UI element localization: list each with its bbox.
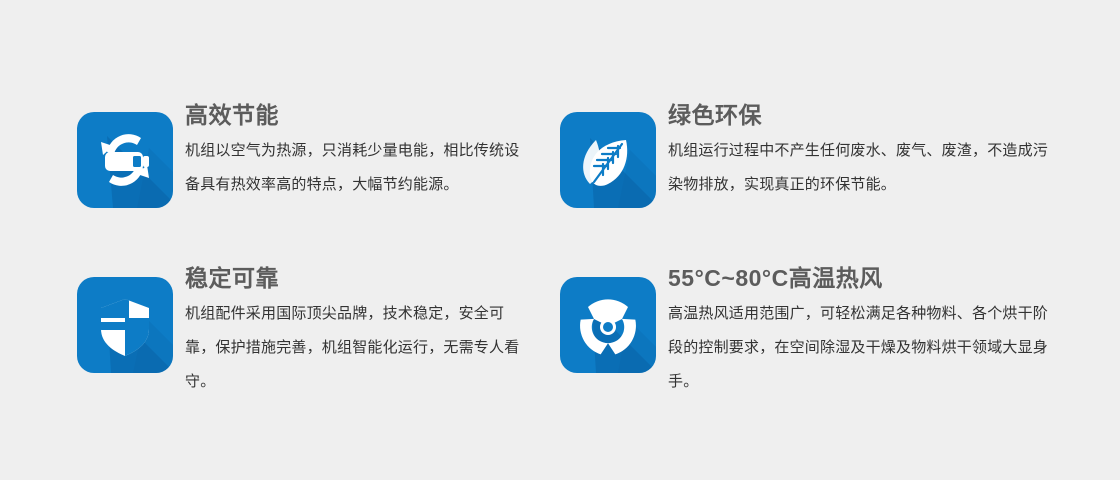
feature-card-hot-air: 55°C~80°C高温热风 高温热风适用范围广，可轻松满足各种物料、各个烘干阶段… — [560, 263, 1052, 399]
feature-card-energy-saving: 高效节能 机组以空气为热源，只消耗少量电能，相比传统设备具有热效率高的特点，大幅… — [77, 100, 560, 263]
feature-title: 稳定可靠 — [185, 263, 523, 293]
feature-icon-tile — [77, 112, 173, 208]
feature-title: 绿色环保 — [668, 100, 1050, 130]
leaf-icon — [560, 112, 656, 208]
radiation-heat-icon — [560, 277, 656, 373]
feature-description: 机组以空气为热源，只消耗少量电能，相比传统设备具有热效率高的特点，大幅节约能源。 — [185, 134, 523, 202]
feature-icon-tile — [560, 112, 656, 208]
feature-card-eco-friendly: 绿色环保 机组运行过程中不产生任何废水、废气、废渣，不造成污染物排放，实现真正的… — [560, 100, 1052, 263]
feature-title: 55°C~80°C高温热风 — [668, 263, 1050, 293]
feature-text-block: 55°C~80°C高温热风 高温热风适用范围广，可轻松满足各种物料、各个烘干阶段… — [656, 263, 1050, 399]
feature-card-reliable: 稳定可靠 机组配件采用国际顶尖品牌，技术稳定，安全可靠，保护措施完善，机组智能化… — [77, 263, 560, 399]
feature-description: 高温热风适用范围广，可轻松满足各种物料、各个烘干阶段的控制要求，在空间除湿及干燥… — [668, 297, 1050, 399]
feature-description: 机组运行过程中不产生任何废水、废气、废渣，不造成污染物排放，实现真正的环保节能。 — [668, 134, 1050, 202]
feature-icon-tile — [560, 277, 656, 373]
shield-icon — [77, 277, 173, 373]
feature-text-block: 稳定可靠 机组配件采用国际顶尖品牌，技术稳定，安全可靠，保护措施完善，机组智能化… — [173, 263, 523, 399]
feature-description: 机组配件采用国际顶尖品牌，技术稳定，安全可靠，保护措施完善，机组智能化运行，无需… — [185, 297, 523, 399]
feature-text-block: 绿色环保 机组运行过程中不产生任何废水、废气、废渣，不造成污染物排放，实现真正的… — [656, 100, 1050, 202]
battery-recycle-icon — [77, 112, 173, 208]
feature-icon-tile — [77, 277, 173, 373]
feature-grid: 高效节能 机组以空气为热源，只消耗少量电能，相比传统设备具有热效率高的特点，大幅… — [0, 0, 1120, 480]
feature-text-block: 高效节能 机组以空气为热源，只消耗少量电能，相比传统设备具有热效率高的特点，大幅… — [173, 100, 523, 202]
feature-title: 高效节能 — [185, 100, 523, 130]
